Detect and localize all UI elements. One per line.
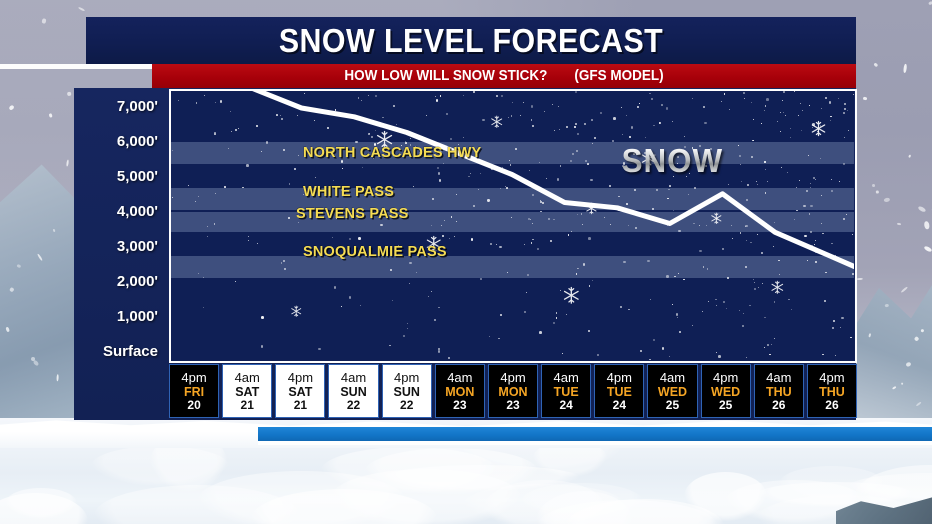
x-axis: 4pmFRI204amSAT214pmSAT214amSUN224pmSUN22… xyxy=(169,364,857,418)
x-axis-time-cell: 4pmWED25 xyxy=(701,364,751,418)
subtitle-text: HOW LOW WILL SNOW STICK? xyxy=(344,67,547,84)
x-axis-time: 4pm xyxy=(500,371,525,385)
x-axis-time-cell: 4amSAT21 xyxy=(222,364,272,418)
y-axis-label: 7,000' xyxy=(117,98,158,115)
x-axis-time: 4pm xyxy=(288,371,313,385)
x-axis-time: 4pm xyxy=(394,371,419,385)
background-snow-speck xyxy=(49,113,52,117)
x-axis-time-cell: 4pmFRI20 xyxy=(169,364,219,418)
x-axis-date: 22 xyxy=(400,399,413,412)
x-axis-time-cell: 4pmMON23 xyxy=(488,364,538,418)
snow-mound xyxy=(91,446,229,486)
footer-blue-bar xyxy=(258,427,932,441)
subtitle-row: HOW LOW WILL SNOW STICK?(GFS MODEL) xyxy=(187,64,821,88)
x-axis-time-cell: 4amSUN22 xyxy=(328,364,378,418)
pass-reference-label: NORTH CASCADES HWY xyxy=(303,145,481,161)
model-text: (GFS MODEL) xyxy=(574,67,663,84)
x-axis-time-cell: 4pmTHU26 xyxy=(807,364,857,418)
x-axis-day: FRI xyxy=(184,385,204,399)
x-axis-day: TUE xyxy=(607,385,632,399)
x-axis-time-cell: 4amTHU26 xyxy=(754,364,804,418)
y-axis-label: 6,000' xyxy=(117,133,158,150)
pass-reference-label: WHITE PASS xyxy=(303,184,394,200)
x-axis-date: 23 xyxy=(506,399,519,412)
x-axis-day: SAT xyxy=(288,385,312,399)
snow-mound xyxy=(330,469,522,524)
x-axis-time-cell: 4amTUE24 xyxy=(541,364,591,418)
x-axis-time-cell: 4pmTUE24 xyxy=(594,364,644,418)
x-axis-time: 4am xyxy=(766,371,791,385)
title-bar: SNOW LEVEL FORECAST xyxy=(86,17,856,64)
y-axis-label: 5,000' xyxy=(117,168,158,185)
x-axis-time: 4pm xyxy=(181,371,206,385)
x-axis-date: 25 xyxy=(666,399,679,412)
x-axis-time: 4am xyxy=(235,371,260,385)
subtitle-bar: HOW LOW WILL SNOW STICK?(GFS MODEL) xyxy=(152,64,856,88)
y-axis-label: 1,000' xyxy=(117,308,158,325)
x-axis-day: MON xyxy=(445,385,474,399)
x-axis-day: THU xyxy=(766,385,792,399)
x-axis-time: 4pm xyxy=(607,371,632,385)
x-axis-time-cell: 4pmSAT21 xyxy=(275,364,325,418)
y-axis: 7,000'6,000'5,000'4,000'3,000'2,000'1,00… xyxy=(74,88,166,368)
x-axis-date: 25 xyxy=(719,399,732,412)
snow-mound xyxy=(5,488,77,519)
x-axis-time: 4am xyxy=(341,371,366,385)
x-axis-date: 20 xyxy=(187,399,200,412)
x-axis-time: 4am xyxy=(660,371,685,385)
x-axis-time: 4am xyxy=(554,371,579,385)
x-axis-day: MON xyxy=(498,385,527,399)
x-axis-time-cell: 4pmSUN22 xyxy=(382,364,432,418)
footer-white-cap xyxy=(258,441,932,445)
snow-level-line xyxy=(170,90,854,360)
x-axis-time: 4pm xyxy=(713,371,738,385)
x-axis-date: 21 xyxy=(241,399,254,412)
x-axis-day: SUN xyxy=(394,385,420,399)
x-axis-day: THU xyxy=(819,385,845,399)
pass-reference-label: SNOQUALMIE PASS xyxy=(303,244,447,260)
x-axis-date: 21 xyxy=(294,399,307,412)
x-axis-day: WED xyxy=(658,385,687,399)
x-axis-date: 26 xyxy=(825,399,838,412)
y-axis-label: 4,000' xyxy=(117,203,158,220)
pass-reference-label: STEVENS PASS xyxy=(296,206,409,222)
x-axis-time: 4pm xyxy=(819,371,844,385)
weather-graphic: SNOW LEVEL FORECAST HOW LOW WILL SNOW ST… xyxy=(0,0,932,524)
plot-area xyxy=(170,90,854,360)
x-axis-time-cell: 4amWED25 xyxy=(647,364,697,418)
x-axis-time: 4am xyxy=(447,371,472,385)
x-axis-date: 22 xyxy=(347,399,360,412)
x-axis-day: SUN xyxy=(340,385,366,399)
x-axis-day: TUE xyxy=(554,385,579,399)
page-title: SNOW LEVEL FORECAST xyxy=(117,17,825,64)
x-axis-time-cell: 4amMON23 xyxy=(435,364,485,418)
y-axis-label: 3,000' xyxy=(117,238,158,255)
x-axis-date: 26 xyxy=(772,399,785,412)
x-axis-date: 24 xyxy=(613,399,626,412)
x-axis-day: SAT xyxy=(235,385,259,399)
y-axis-label: Surface xyxy=(103,343,158,360)
x-axis-day: WED xyxy=(711,385,740,399)
x-axis-date: 24 xyxy=(559,399,572,412)
background-white-rule xyxy=(0,64,160,69)
snow-word-label: SNOW xyxy=(622,142,723,180)
x-axis-date: 23 xyxy=(453,399,466,412)
y-axis-label: 2,000' xyxy=(117,273,158,290)
